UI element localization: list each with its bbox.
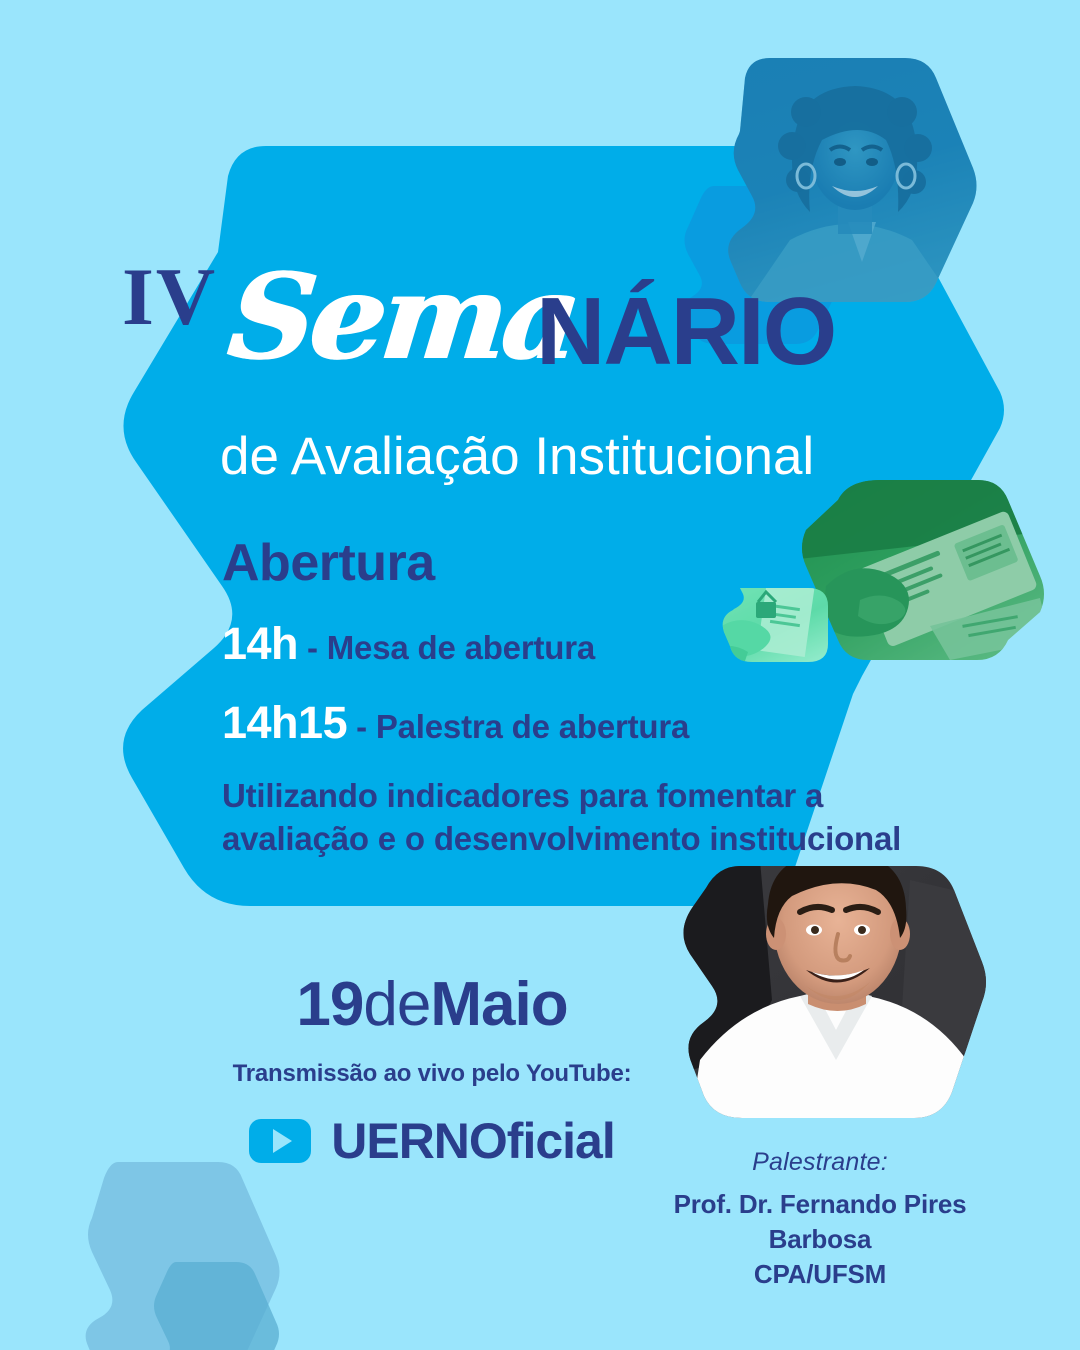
schedule-item-1-desc: - Mesa de abertura (298, 629, 595, 666)
event-date-day: 19 (296, 970, 363, 1039)
speaker-organization: CPA/UFSM (620, 1257, 1020, 1292)
schedule-heading: Abertura (222, 536, 902, 591)
speaker-credit-block: Palestrante: Prof. Dr. Fernando Pires Ba… (620, 1148, 1020, 1292)
schedule-item-2-time: 14h15 (222, 697, 347, 748)
date-broadcast-block: 19deMaio Transmissão ao vivo pelo YouTub… (222, 974, 642, 1170)
event-date-month: Maio (430, 970, 567, 1039)
schedule-item-2-desc: - Palestra de abertura (347, 708, 689, 745)
event-date: 19deMaio (222, 974, 642, 1036)
schedule-item-2: 14h15 - Palestra de abertura (222, 696, 902, 749)
talk-title: Utilizando indicadores para fomentar a a… (222, 775, 902, 861)
youtube-channel-row[interactable]: UERNOficial (222, 1112, 642, 1170)
broadcast-label: Transmissão ao vivo pelo YouTube: (222, 1060, 642, 1088)
youtube-play-icon[interactable] (249, 1119, 311, 1163)
event-date-connector: de (363, 970, 430, 1039)
title-script-part: Sema (224, 258, 582, 376)
schedule-item-1: 14h - Mesa de abertura (222, 617, 902, 670)
edition-number: IV (122, 256, 217, 338)
speaker-label: Palestrante: (620, 1148, 1020, 1177)
youtube-channel-name[interactable]: UERNOficial (331, 1112, 615, 1170)
content-layer: IV Sema NÁRIO de Avaliação Institucional… (0, 0, 1080, 1350)
schedule-block: Abertura 14h - Mesa de abertura 14h15 - … (222, 536, 902, 861)
schedule-item-1-time: 14h (222, 618, 298, 669)
title-main-row: IV Sema NÁRIO (118, 250, 918, 398)
play-triangle-icon (273, 1129, 292, 1153)
event-subtitle: de Avaliação Institucional (220, 426, 814, 487)
title-bold-part: NÁRIO (536, 284, 835, 380)
event-title-block: IV Sema NÁRIO de Avaliação Institucional (118, 250, 918, 398)
poster-canvas: IV Sema NÁRIO de Avaliação Institucional… (0, 0, 1080, 1350)
speaker-name: Prof. Dr. Fernando Pires Barbosa (620, 1187, 1020, 1257)
